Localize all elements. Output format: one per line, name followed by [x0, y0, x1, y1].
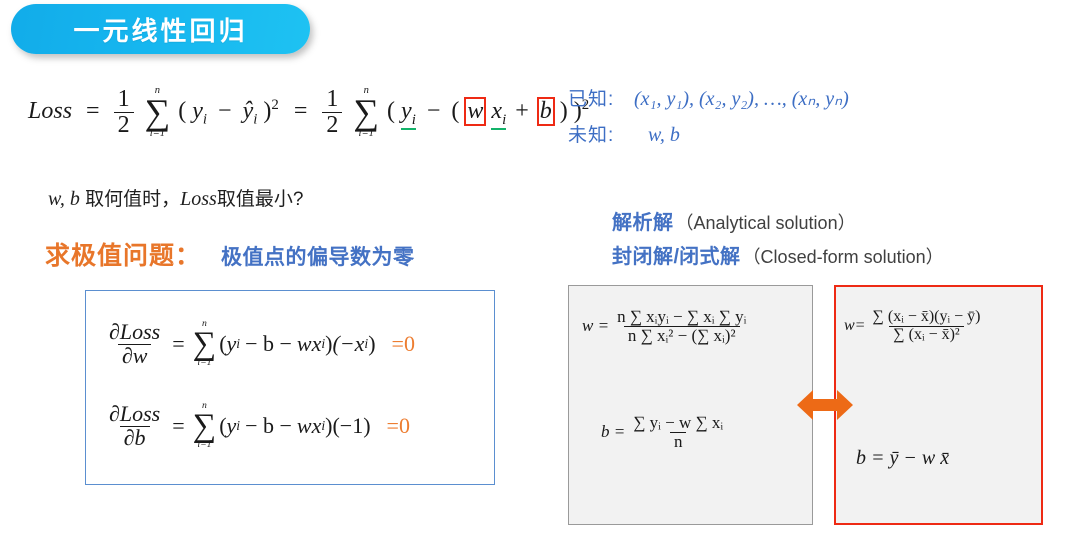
dloss-db-fraction: ∂Loss ∂b: [105, 403, 164, 450]
loss-label: Loss: [28, 98, 72, 124]
closed-form-right-box: w= ∑ (xᵢ − x̄)(yᵢ − ȳ) ∑ (xᵢ − x̄)² b = …: [834, 285, 1043, 525]
derivative-b-factor: (−1: [332, 413, 363, 439]
one-half-fraction: 1 2: [114, 87, 134, 138]
analytical-solution-line: 解析解 （Analytical solution）: [612, 206, 944, 235]
fraction-numerator: 1: [114, 87, 134, 112]
fraction-denominator: 2: [114, 112, 134, 138]
dloss-numerator-b: ∂Loss: [105, 403, 164, 426]
closed-form-left-b-fraction: ∑ yᵢ − w ∑ xᵢ n: [629, 414, 727, 450]
derivative-w-factor: (−x: [332, 331, 364, 357]
w-highlight-box: w: [464, 97, 486, 126]
power-2-a: 2: [271, 97, 278, 113]
closed-form-left-b-denominator: n: [670, 432, 687, 451]
slide-canvas: 一元线性回归 Loss = 1 2 n ∑ i=1 ( yi − ŷi )2 =…: [0, 0, 1067, 539]
known-row: 已知: (x₁, y₁), (x₂, y₂), …, (xₙ, yₙ): [568, 84, 849, 111]
known-label: 已知:: [568, 84, 634, 111]
known-value: (x₁, y₁), (x₂, y₂), …, (xₙ, yₙ): [634, 86, 849, 111]
closed-form-cn-b: 闭式解: [679, 240, 741, 269]
y-i-underlined: yi: [401, 99, 416, 130]
derivative-w-wx: wx: [297, 331, 321, 357]
derivative-b-minus-b: − b −: [245, 413, 292, 439]
derivative-b-result: =0: [387, 413, 410, 439]
y-hat-term: ŷ: [243, 98, 254, 124]
y-i-term: y: [192, 98, 203, 124]
y-i-subscript: i: [203, 112, 207, 128]
x-underlined-subscript: i: [502, 112, 506, 128]
derivative-b-equation: ∂Loss ∂b = n ∑ i=1 ( yi − b − wxi ) (−1)…: [105, 402, 410, 450]
sum-lower-limit: i=1: [150, 129, 165, 139]
closed-form-right-w-denominator: ∑ (xᵢ − x̄)²: [889, 326, 964, 344]
closed-form-right-w: w= ∑ (xᵢ − x̄)(yᵢ − ȳ) ∑ (xᵢ − x̄)²: [844, 309, 984, 343]
closed-form-left-w-fraction: n ∑ xᵢyᵢ − ∑ xᵢ ∑ yᵢ n ∑ xᵢ² − (∑ xᵢ)²: [613, 308, 750, 344]
sigma-icon: ∑: [145, 96, 171, 129]
db-denominator: ∂b: [120, 426, 150, 450]
closed-form-left-b-numerator: ∑ yᵢ − w ∑ xᵢ: [629, 414, 727, 432]
closed-form-left-b-lhs: b =: [601, 422, 625, 442]
equals-2: =: [294, 98, 308, 124]
closed-form-right-w-lhs: w=: [844, 317, 865, 335]
slide-title-text: 一元线性回归: [73, 11, 247, 48]
minus-2: −: [427, 98, 441, 124]
sum-lower-limit-2: i=1: [359, 129, 374, 139]
closed-form-left-w-denominator: n ∑ xᵢ² − (∑ xᵢ)²: [624, 326, 740, 345]
unknown-label: 未知:: [568, 120, 634, 147]
question-text-end: 取值最小?: [217, 189, 304, 210]
paren-open-1: (: [178, 98, 186, 124]
derivative-w-body-close: ): [325, 331, 332, 357]
question-text-mid: 取何值时，: [80, 189, 180, 210]
loss-equation: Loss = 1 2 n ∑ i=1 ( yi − ŷi )2 = 1 2 n …: [28, 86, 589, 139]
sigma-icon-2: ∑: [353, 96, 379, 129]
extremum-heading-sub: 极值点的偏导数为零: [221, 241, 415, 271]
paren-open-2: (: [387, 98, 395, 124]
b-highlight-box: b: [537, 97, 555, 126]
closed-form-right-b: b = ȳ − w x̄: [856, 447, 949, 470]
derivative-w-result: =0: [392, 331, 415, 357]
fraction-denominator-2: 2: [322, 112, 342, 138]
derivative-b-sum-lower: i=1: [197, 441, 211, 450]
derivative-b-y: y: [227, 413, 237, 439]
summation-1: n ∑ i=1: [145, 86, 171, 139]
y-hat-subscript: i: [253, 112, 257, 128]
closed-form-en: （Closed-form solution）: [743, 243, 944, 269]
derivative-b-body-open: (: [219, 413, 226, 439]
derivative-w-equals: =: [172, 331, 184, 357]
closed-form-solution-line: 封闭解 / 闭式解 （Closed-form solution）: [612, 240, 944, 269]
inner-paren-open: (: [451, 98, 459, 124]
closed-form-left-w-numerator: n ∑ xᵢyᵢ − ∑ xᵢ ∑ yᵢ: [613, 308, 750, 326]
dloss-numerator-w: ∂Loss: [105, 321, 164, 344]
derivative-w-body-open: (: [219, 331, 226, 357]
derivative-w-summation: n ∑ i=1: [193, 320, 217, 368]
closed-form-right-w-numerator: ∑ (xᵢ − x̄)(yᵢ − ȳ): [868, 309, 984, 326]
b-variable: b: [540, 98, 552, 124]
known-unknown-block: 已知: (x₁, y₁), (x₂, y₂), …, (xₙ, yₙ) 未知: …: [568, 84, 849, 156]
double-headed-arrow-icon: [795, 385, 855, 425]
closed-form-cn-a: 封闭解: [612, 240, 674, 269]
derivative-w-factor-close: ): [368, 331, 375, 357]
extremum-heading: 求极值问题： 极值点的偏导数为零: [45, 236, 415, 272]
closed-form-left-box: w = n ∑ xᵢyᵢ − ∑ xᵢ ∑ yᵢ n ∑ xᵢ² − (∑ xᵢ…: [568, 285, 813, 525]
unknown-value: w, b: [634, 124, 680, 147]
derivative-w-y-sub: i: [236, 336, 240, 352]
y-underlined-subscript: i: [412, 112, 416, 128]
unknown-row: 未知: w, b: [568, 120, 849, 147]
equals-1: =: [86, 98, 100, 124]
derivative-b-summation: n ∑ i=1: [193, 402, 217, 450]
slide-title-badge: 一元线性回归: [11, 4, 310, 54]
x-underlined-letter: x: [491, 98, 502, 124]
plus-sign: +: [515, 98, 529, 124]
derivative-w-sum-lower: i=1: [197, 359, 211, 368]
derivative-w-minus-b: − b −: [245, 331, 292, 357]
x-i-underlined: xi: [491, 99, 506, 130]
closed-form-left-b: b = ∑ yᵢ − w ∑ xᵢ n: [601, 414, 727, 450]
sigma-icon-w: ∑: [193, 329, 217, 359]
summation-2: n ∑ i=1: [353, 86, 379, 139]
y-underlined-letter: y: [401, 98, 412, 124]
question-loss-word: Loss: [180, 188, 217, 210]
closed-form-left-w: w = n ∑ xᵢyᵢ − ∑ xᵢ ∑ yᵢ n ∑ xᵢ² − (∑ xᵢ…: [582, 308, 750, 344]
dloss-dw-fraction: ∂Loss ∂w: [105, 321, 164, 368]
fraction-numerator-2: 1: [322, 87, 342, 112]
derivative-b-factor-close: ): [363, 413, 370, 439]
solution-labels-block: 解析解 （Analytical solution） 封闭解 / 闭式解 （Clo…: [612, 206, 944, 269]
analytical-solution-en: （Analytical solution）: [676, 209, 856, 235]
closed-form-right-w-fraction: ∑ (xᵢ − x̄)(yᵢ − ȳ) ∑ (xᵢ − x̄)²: [868, 309, 984, 343]
analytical-solution-cn: 解析解: [612, 206, 674, 235]
question-variables: w, b: [48, 188, 80, 210]
extremum-heading-main: 求极值问题：: [45, 236, 201, 272]
derivative-b-equals: =: [172, 413, 184, 439]
derivative-w-y: y: [227, 331, 237, 357]
question-line: w, b 取何值时，Loss取值最小?: [48, 184, 303, 211]
derivative-w-equation: ∂Loss ∂w = n ∑ i=1 ( yi − b − wxi ) (−xi…: [105, 320, 415, 368]
one-half-fraction-2: 1 2: [322, 87, 342, 138]
minus-1: −: [218, 98, 232, 124]
closed-form-left-w-lhs: w =: [582, 316, 609, 336]
sigma-icon-b: ∑: [193, 411, 217, 441]
w-variable: w: [467, 98, 483, 124]
derivative-b-wx: wx: [297, 413, 321, 439]
derivative-b-y-sub: i: [236, 418, 240, 434]
derivative-b-body-close: ): [325, 413, 332, 439]
inner-paren-close: ): [560, 98, 568, 124]
dw-denominator: ∂w: [118, 344, 152, 368]
